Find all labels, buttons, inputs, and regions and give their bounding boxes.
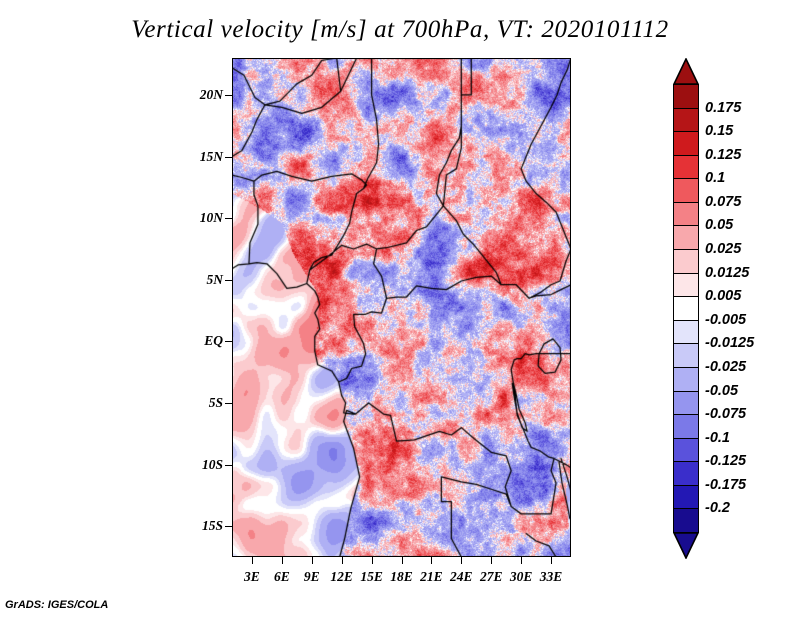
colorbar-swatch — [673, 249, 699, 274]
latitude-axis: 20N15N10N5NEQ5S10S15S — [232, 58, 571, 557]
colorbar-swatch — [673, 438, 699, 463]
colorbar-swatch — [673, 508, 699, 533]
longitude-tick — [312, 557, 313, 564]
colorbar-swatch — [673, 178, 699, 203]
colorbar-tick-label: -0.1 — [705, 430, 730, 446]
colorbar-tick-label: 0.025 — [705, 241, 741, 257]
colorbar-tick-label: 0.125 — [705, 147, 741, 163]
longitude-tick-label: 24E — [450, 569, 473, 585]
colorbar-tick-label: 0.005 — [705, 288, 741, 304]
longitude-tick — [342, 557, 343, 564]
latitude-tick-label: 15S — [202, 518, 223, 534]
latitude-tick — [225, 341, 232, 342]
latitude-tick — [225, 526, 232, 527]
latitude-tick-label: 5N — [207, 272, 224, 288]
colorbar-swatches — [673, 84, 699, 532]
longitude-tick-label: 6E — [274, 569, 290, 585]
colorbar-swatch — [673, 131, 699, 156]
page-title: Vertical velocity [m/s] at 700hPa, VT: 2… — [0, 16, 800, 44]
longitude-tick — [521, 557, 522, 564]
longitude-axis: 3E6E9E12E15E18E21E24E27E30E33E — [232, 557, 571, 587]
longitude-tick-label: 3E — [244, 569, 260, 585]
colorbar-tick-label: -0.125 — [705, 453, 746, 469]
latitude-tick — [225, 95, 232, 96]
colorbar-tick-label: -0.005 — [705, 312, 746, 328]
longitude-tick — [402, 557, 403, 564]
colorbar-swatch — [673, 414, 699, 439]
longitude-tick — [491, 557, 492, 564]
colorbar-swatch — [673, 461, 699, 486]
longitude-tick-label: 33E — [540, 569, 563, 585]
colorbar: 0.1750.150.1250.10.0750.050.0250.01250.0… — [673, 58, 699, 558]
longitude-tick — [551, 557, 552, 564]
latitude-tick — [225, 218, 232, 219]
colorbar-swatch — [673, 296, 699, 321]
colorbar-tick-label: -0.075 — [705, 406, 746, 422]
latitude-tick — [225, 465, 232, 466]
colorbar-swatch — [673, 343, 699, 368]
colorbar-min-arrow-icon — [673, 532, 699, 558]
map-plot-panel: 20N15N10N5NEQ5S10S15S 3E6E9E12E15E18E21E… — [232, 58, 571, 557]
colorbar-tick-label: 0.0125 — [705, 265, 749, 281]
colorbar-swatch — [673, 485, 699, 510]
colorbar-swatch — [673, 84, 699, 109]
latitude-tick — [225, 280, 232, 281]
latitude-tick-label: 10S — [202, 457, 223, 473]
latitude-tick-label: EQ — [204, 333, 223, 349]
latitude-tick — [225, 157, 232, 158]
colorbar-swatch — [673, 391, 699, 416]
colorbar-swatch — [673, 108, 699, 133]
colorbar-tick-label: 0.05 — [705, 217, 733, 233]
grads-credit: GrADS: IGES/COLA — [5, 599, 108, 611]
colorbar-max-arrow-icon — [673, 58, 699, 84]
colorbar-tick-label: 0.1 — [705, 170, 725, 186]
colorbar-tick-label: -0.175 — [705, 477, 746, 493]
colorbar-swatch — [673, 367, 699, 392]
latitude-tick-label: 10N — [200, 210, 223, 226]
colorbar-tick-label: 0.075 — [705, 194, 741, 210]
latitude-tick — [225, 403, 232, 404]
longitude-tick — [431, 557, 432, 564]
colorbar-swatch — [673, 225, 699, 250]
longitude-tick-label: 15E — [360, 569, 383, 585]
colorbar-tick-label: -0.2 — [705, 500, 730, 516]
longitude-tick-label: 27E — [480, 569, 503, 585]
colorbar-swatch — [673, 155, 699, 180]
colorbar-tick-label: -0.05 — [705, 383, 738, 399]
latitude-tick-label: 20N — [200, 87, 223, 103]
latitude-tick-label: 5S — [209, 395, 223, 411]
longitude-tick — [252, 557, 253, 564]
longitude-tick-label: 18E — [390, 569, 413, 585]
colorbar-swatch — [673, 273, 699, 298]
longitude-tick — [282, 557, 283, 564]
colorbar-tick-label: 0.175 — [705, 100, 741, 116]
colorbar-swatch — [673, 202, 699, 227]
longitude-tick-label: 12E — [330, 569, 353, 585]
colorbar-swatch — [673, 320, 699, 345]
colorbar-tick-label: -0.025 — [705, 359, 746, 375]
latitude-tick-label: 15N — [200, 149, 223, 165]
colorbar-tick-label: 0.15 — [705, 123, 733, 139]
colorbar-tick-label: -0.0125 — [705, 335, 754, 351]
longitude-tick-label: 9E — [304, 569, 320, 585]
longitude-tick — [372, 557, 373, 564]
longitude-tick-label: 21E — [420, 569, 443, 585]
longitude-tick — [461, 557, 462, 564]
longitude-tick-label: 30E — [510, 569, 533, 585]
